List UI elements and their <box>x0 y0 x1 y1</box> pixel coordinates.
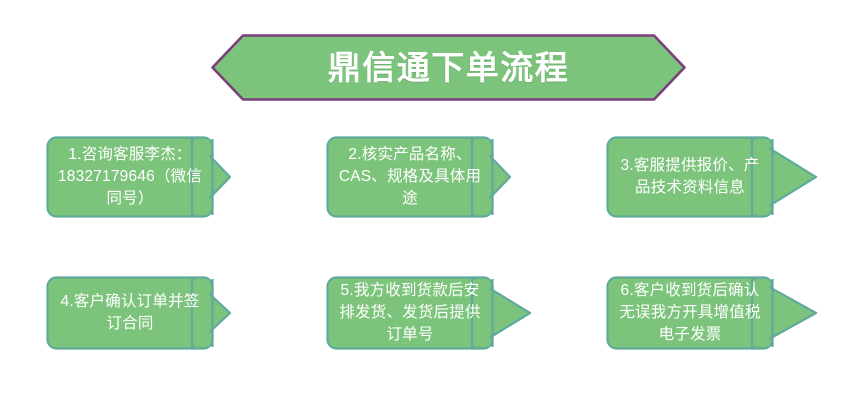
step-1-label: 1.咨询客服李杰：18327179646（微信同号） <box>46 136 214 218</box>
page-title: 鼎信通下单流程 <box>211 34 686 101</box>
step-6-label: 6.客户收到货后确认无误我方开具增值税电子发票 <box>606 276 774 350</box>
process-step-4[interactable]: 4.客户确认订单并签订合同 <box>46 276 232 350</box>
step-3-label: 3.客服提供报价、产品技术资料信息 <box>606 136 774 218</box>
process-step-6[interactable]: 6.客户收到货后确认无误我方开具增值税电子发票 <box>606 276 818 350</box>
process-step-1[interactable]: 1.咨询客服李杰：18327179646（微信同号） <box>46 136 232 218</box>
step-2-label: 2.核实产品名称、CAS、规格及具体用途 <box>326 136 494 218</box>
process-step-5[interactable]: 5.我方收到货款后安排发货、发货后提供订单号 <box>326 276 532 350</box>
title-banner: 鼎信通下单流程 <box>211 34 686 101</box>
process-step-3[interactable]: 3.客服提供报价、产品技术资料信息 <box>606 136 818 218</box>
process-step-2[interactable]: 2.核实产品名称、CAS、规格及具体用途 <box>326 136 512 218</box>
flowchart-canvas: 鼎信通下单流程 1.咨询客服李杰：18327179646（微信同号） 2.核实产… <box>0 0 865 417</box>
step-4-label: 4.客户确认订单并签订合同 <box>46 276 214 350</box>
step-5-label: 5.我方收到货款后安排发货、发货后提供订单号 <box>326 276 494 350</box>
